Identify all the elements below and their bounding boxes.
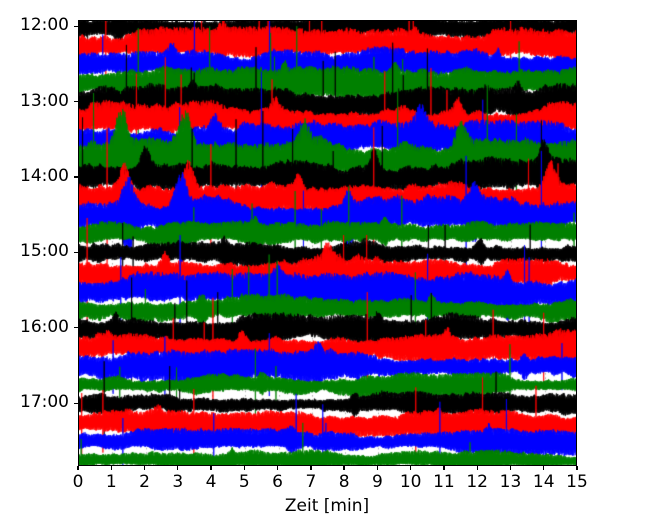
x-tick-label: 4 (206, 472, 217, 492)
x-tick-label: 5 (239, 472, 250, 492)
y-tick-label: 14:00 (0, 166, 69, 186)
y-tick-label: 16:00 (0, 317, 69, 337)
x-tick-mark (510, 466, 511, 470)
x-tick-mark (277, 466, 278, 470)
x-tick-mark (244, 466, 245, 470)
x-tick-label: 15 (566, 472, 588, 492)
x-tick-label: 8 (339, 472, 350, 492)
x-tick-label: 0 (73, 472, 84, 492)
x-tick-mark (310, 466, 311, 470)
x-tick-label: 9 (372, 472, 383, 492)
x-tick-label: 13 (500, 472, 522, 492)
y-tick-label: 12:00 (0, 15, 69, 35)
x-tick-mark (77, 466, 78, 470)
x-tick-label: 10 (400, 472, 422, 492)
y-tick-label: 17:00 (0, 392, 69, 412)
x-tick-mark (210, 466, 211, 470)
y-tick-label: 13:00 (0, 91, 69, 111)
seismogram-traces (79, 21, 577, 466)
x-tick-label: 3 (172, 472, 183, 492)
x-tick-label: 14 (533, 472, 555, 492)
x-tick-mark (177, 466, 178, 470)
x-tick-mark (377, 466, 378, 470)
x-tick-label: 1 (106, 472, 117, 492)
x-tick-label: 7 (305, 472, 316, 492)
x-tick-label: 6 (272, 472, 283, 492)
x-tick-mark (576, 466, 577, 470)
x-axis-label: Zeit [min] (285, 496, 369, 516)
seismogram-figure: UTC (Lokalzeit = UTC + 01:00) 12:0013:00… (0, 0, 650, 520)
y-tick-label: 15:00 (0, 241, 69, 261)
x-tick-mark (343, 466, 344, 470)
x-tick-mark (144, 466, 145, 470)
x-tick-label: 12 (466, 472, 488, 492)
x-tick-label: 2 (139, 472, 150, 492)
x-tick-mark (543, 466, 544, 470)
plot-area (78, 20, 577, 466)
x-tick-mark (111, 466, 112, 470)
x-tick-mark (477, 466, 478, 470)
x-tick-label: 11 (433, 472, 455, 492)
x-tick-mark (410, 466, 411, 470)
x-tick-mark (443, 466, 444, 470)
